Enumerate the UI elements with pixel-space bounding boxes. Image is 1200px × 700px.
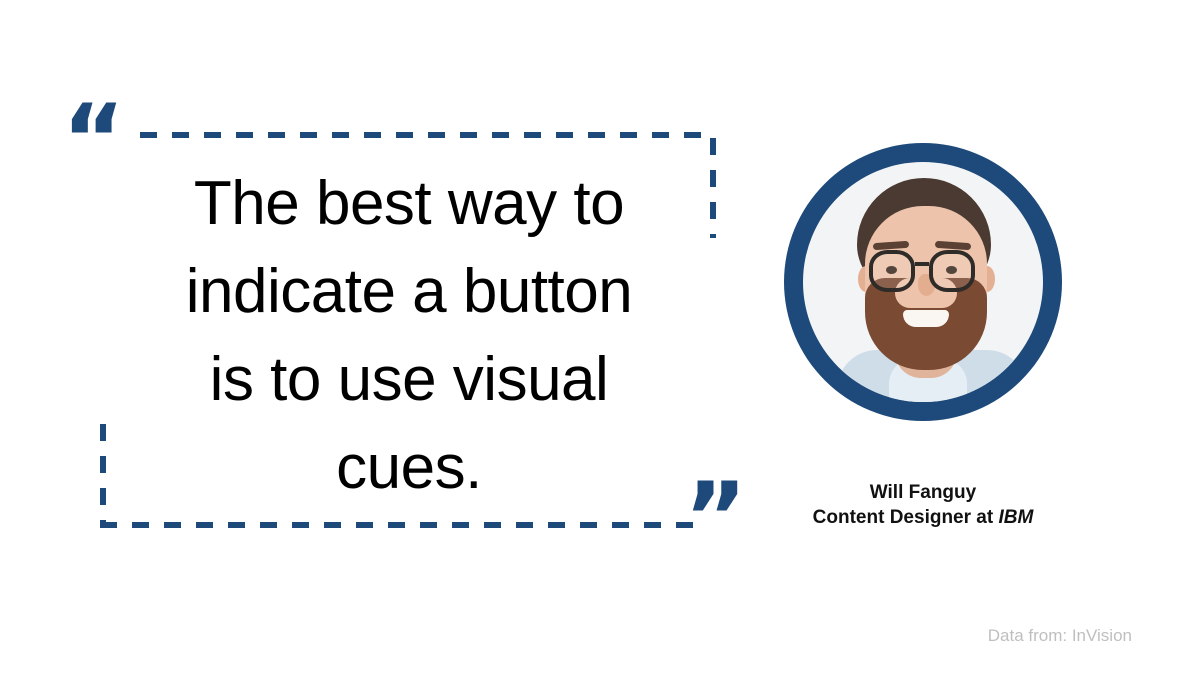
glasses-icon-right: [929, 250, 975, 292]
source-note: Data from: InVision: [988, 626, 1132, 646]
closing-quote-mark: ”: [684, 470, 747, 566]
attribution-name: Will Fanguy: [760, 480, 1086, 505]
avatar-photo: [803, 162, 1043, 402]
attribution-role: Content Designer at IBM: [760, 505, 1086, 530]
frame-border-top: [140, 132, 716, 138]
quote-line-2: indicate a button: [104, 248, 714, 336]
quote-line-4: cues.: [104, 424, 714, 512]
frame-border-bottom: [100, 522, 708, 528]
quote-line-3: is to use visual: [104, 336, 714, 424]
portrait-mouth: [903, 310, 949, 327]
attribution-role-prefix: Content Designer at: [813, 507, 999, 528]
attribution: Will Fanguy Content Designer at IBM: [760, 480, 1086, 530]
avatar: [784, 143, 1062, 421]
glasses-bridge: [915, 262, 929, 266]
attribution-company: IBM: [998, 507, 1033, 528]
portrait-illustration: [803, 162, 1043, 402]
glasses-icon-left: [869, 250, 915, 292]
quote-text: The best way to indicate a button is to …: [104, 160, 714, 512]
quote-slide: “ The best way to indicate a button is t…: [0, 0, 1200, 700]
quote-line-1: The best way to: [104, 160, 714, 248]
